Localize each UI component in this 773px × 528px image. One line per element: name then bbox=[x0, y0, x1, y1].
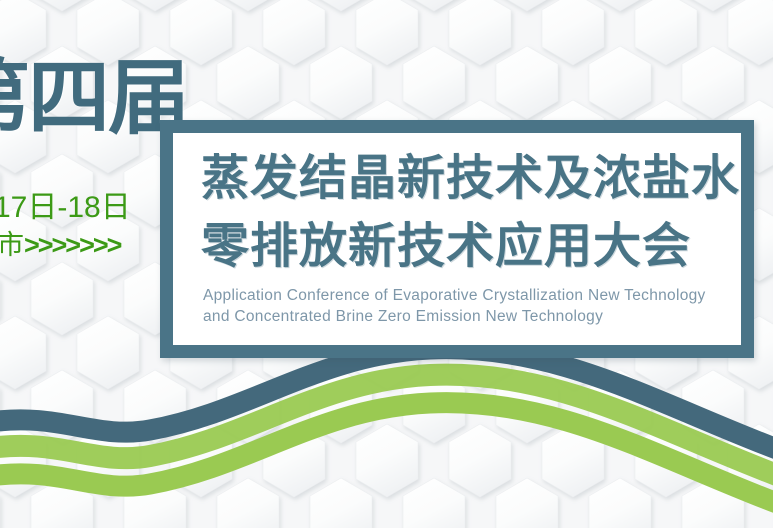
arrows-icon: >>>>>>> bbox=[24, 230, 120, 260]
title-card-inner: 蒸发结晶新技术及浓盐水 零排放新技术应用大会 Application Confe… bbox=[173, 133, 741, 345]
conference-poster: 第四届 月17日-18日 州市>>>>>>> 蒸发结晶新技术及浓盐水 零排放新技… bbox=[0, 0, 773, 528]
title-card-frame: 蒸发结晶新技术及浓盐水 零排放新技术应用大会 Application Confe… bbox=[160, 120, 754, 358]
conference-title-en-line2: and Concentrated Brine Zero Emission New… bbox=[203, 306, 706, 327]
conference-title-cn-line2: 零排放新技术应用大会 bbox=[201, 213, 740, 281]
event-city-line: 州市>>>>>>> bbox=[0, 232, 120, 259]
conference-title-en-line1: Application Conference of Evaporative Cr… bbox=[203, 285, 706, 306]
event-date: 月17日-18日 bbox=[0, 193, 131, 223]
conference-title-en: Application Conference of Evaporative Cr… bbox=[203, 285, 706, 327]
conference-title-cn: 蒸发结晶新技术及浓盐水 零排放新技术应用大会 bbox=[201, 145, 740, 281]
decorative-waves bbox=[0, 330, 773, 528]
conference-title-cn-line1: 蒸发结晶新技术及浓盐水 bbox=[201, 152, 740, 205]
event-city: 州市 bbox=[0, 230, 24, 260]
